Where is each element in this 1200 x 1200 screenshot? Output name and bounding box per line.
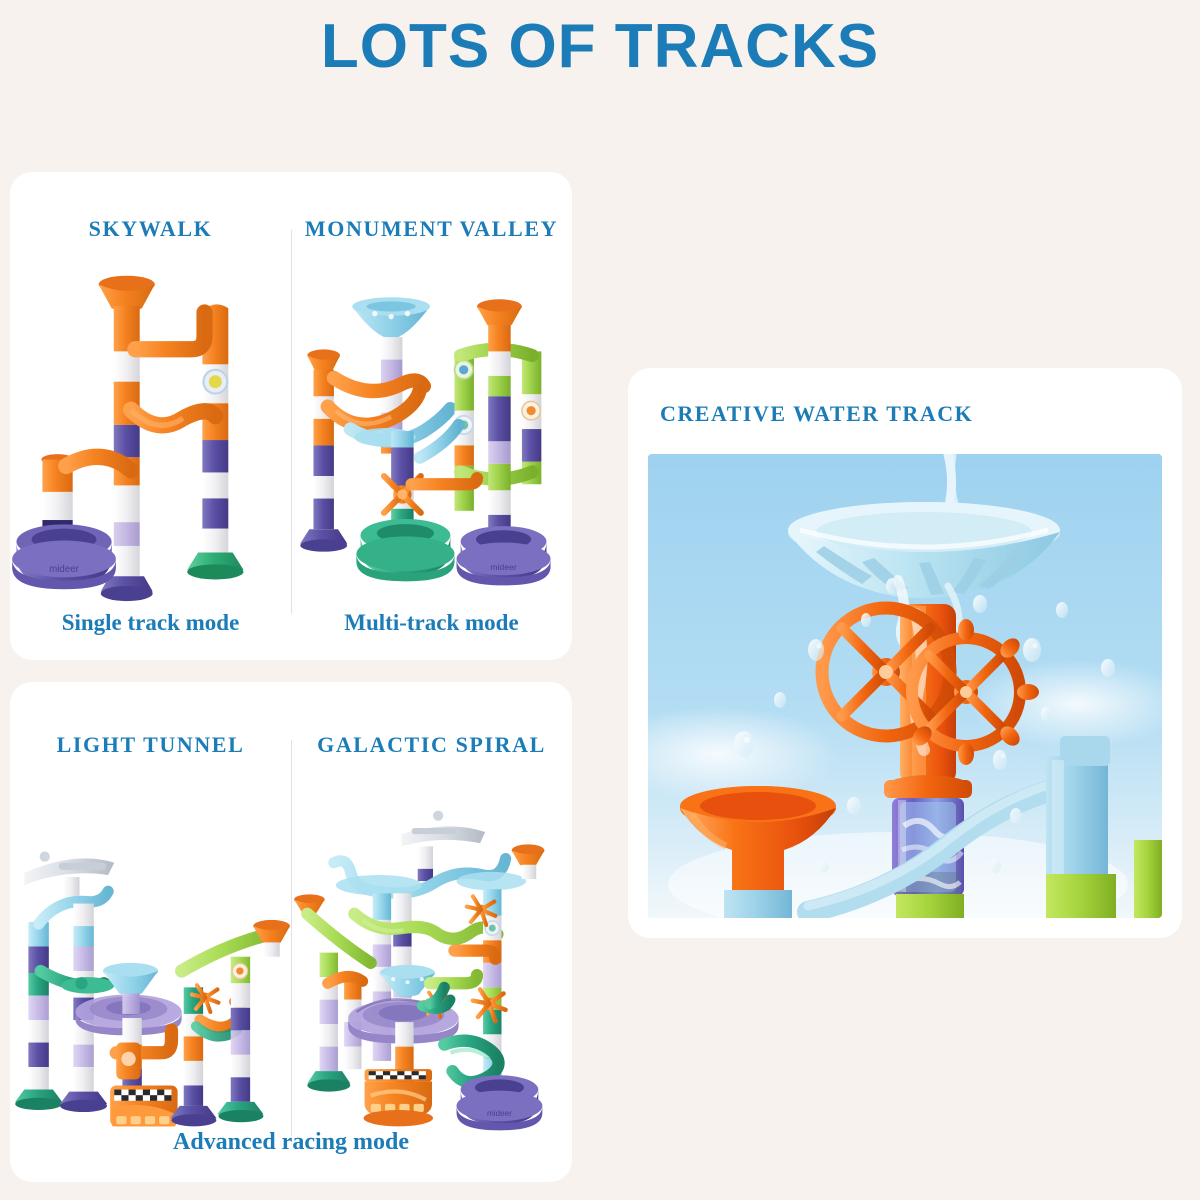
- panel-heading-monument-valley: MONUMENT VALLEY: [291, 172, 572, 242]
- art-marble-run-single-track: mideer: [10, 242, 291, 610]
- panel-skywalk: SKYWALK: [10, 172, 291, 660]
- card-heading-creative-water-track: CREATIVE WATER TRACK: [660, 401, 973, 427]
- panel-heading-galactic-spiral: GALACTIC SPIRAL: [291, 682, 572, 758]
- page-title: LOTS OF TRACKS: [0, 14, 1200, 79]
- card-track-modes: SKYWALK: [10, 172, 572, 660]
- panel-caption-single-track: Single track mode: [10, 610, 291, 660]
- panel-heading-skywalk: SKYWALK: [10, 172, 291, 242]
- art-marble-run-multi-track: mideer: [291, 242, 572, 610]
- art-marble-run-galactic-spiral: mideer: [291, 758, 572, 1182]
- art-marble-run-light-tunnel: [10, 758, 291, 1182]
- panel-heading-light-tunnel: LIGHT TUNNEL: [10, 682, 291, 758]
- photo-water-track: [648, 454, 1162, 918]
- card-creative-water-track: CREATIVE WATER TRACK: [628, 368, 1182, 938]
- panel-divider: [291, 740, 292, 1136]
- panel-monument-valley: MONUMENT VALLEY: [291, 172, 572, 660]
- panel-caption-multi-track: Multi-track mode: [291, 610, 572, 660]
- panel-galactic-spiral: GALACTIC SPIRAL: [291, 682, 572, 1182]
- brand-logo-text: mideer: [49, 564, 79, 575]
- brand-logo-text: mideer: [487, 1109, 512, 1118]
- panel-divider: [291, 230, 292, 614]
- panel-light-tunnel: LIGHT TUNNEL: [10, 682, 291, 1182]
- card-advanced-racing: LIGHT TUNNEL: [10, 682, 572, 1182]
- brand-logo-text: mideer: [490, 562, 517, 572]
- card-caption-advanced-racing: Advanced racing mode: [10, 1129, 572, 1156]
